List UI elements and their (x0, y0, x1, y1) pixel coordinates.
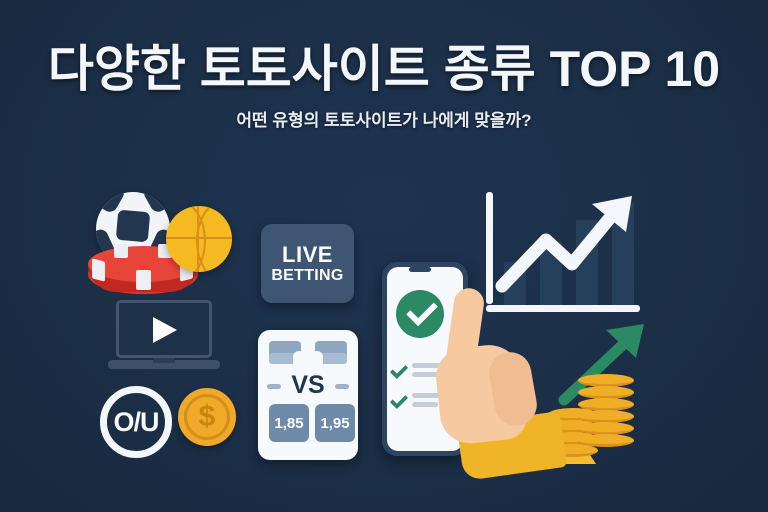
odds-away-value: 1,95 (320, 416, 349, 431)
live-betting-line2: BETTING (271, 268, 343, 284)
shield-cutout (293, 351, 323, 371)
laptop-video-play-icon (108, 300, 220, 376)
dollar-symbol: $ (199, 402, 216, 432)
check-icon (390, 361, 408, 379)
play-icon (153, 317, 177, 343)
phone-notch (409, 267, 431, 272)
odds-home-chip: 1,85 (269, 404, 309, 442)
page-subtitle: 어떤 유형의 토토사이트가 나에게 맞을까? (0, 98, 768, 131)
over-under-label: O/U (113, 409, 158, 436)
header: 다양한 토토사이트 종류 TOP 10 어떤 유형의 토토사이트가 나에게 맞을… (0, 0, 768, 131)
odds-away-chip: 1,95 (315, 404, 355, 442)
match-odds-card: VS 1,85 1,95 (258, 330, 358, 460)
coin-stack-large (578, 374, 634, 456)
poster-canvas: 다양한 토토사이트 종류 TOP 10 어떤 유형의 토토사이트가 나에게 맞을… (0, 0, 768, 512)
vs-label: VS (258, 373, 358, 398)
page-title: 다양한 토토사이트 종류 TOP 10 (0, 0, 768, 98)
live-betting-card: LIVE BETTING (261, 224, 354, 303)
pointing-hand-icon (432, 288, 562, 463)
basketball-icon (166, 206, 232, 272)
dollar-coin-icon: $ (178, 388, 236, 446)
odds-home-value: 1,85 (274, 416, 303, 431)
over-under-badge: O/U (100, 386, 172, 458)
live-betting-line1: LIVE (282, 244, 333, 266)
check-icon (390, 391, 408, 409)
